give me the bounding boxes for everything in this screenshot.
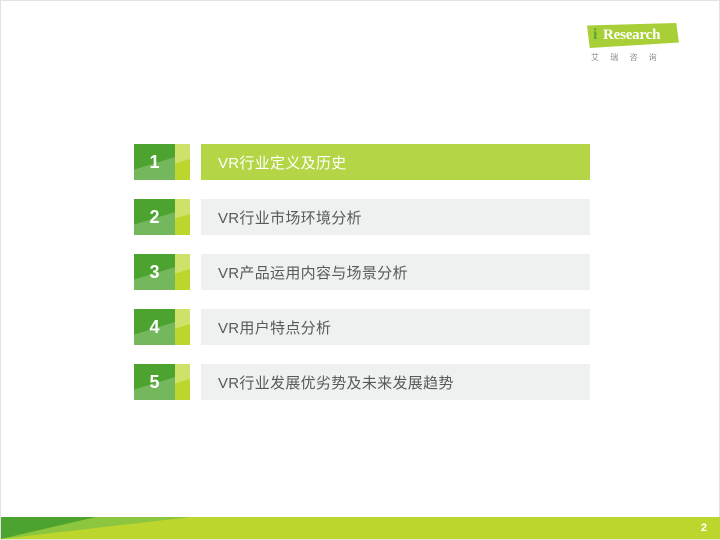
page-number: 2 [701, 517, 707, 539]
agenda-text-bar[interactable]: VR产品运用内容与场景分析 [201, 254, 590, 290]
agenda-item-label: VR产品运用内容与场景分析 [201, 262, 408, 283]
footer-band: 2 [1, 517, 720, 539]
agenda-number: 3 [134, 254, 175, 290]
agenda-text-bar[interactable]: VR用户特点分析 [201, 309, 590, 345]
tile-side-diagonal [175, 309, 190, 345]
agenda-number-tile: 3 [134, 254, 190, 290]
agenda-number-tile: 5 [134, 364, 190, 400]
iresearch-logo: i Research 艾 瑞 咨 询 [587, 23, 683, 71]
agenda-number-tile: 1 [134, 144, 190, 180]
agenda-item-5[interactable]: 5 VR行业发展优劣势及未来发展趋势 [134, 364, 590, 400]
agenda-item-2[interactable]: 2 VR行业市场环境分析 [134, 199, 590, 235]
tile-side-diagonal [175, 199, 190, 235]
slide-canvas: i Research 艾 瑞 咨 询 1 VR行业定义及历史 2 [0, 0, 720, 540]
agenda-text-bar[interactable]: VR行业市场环境分析 [201, 199, 590, 235]
agenda-list: 1 VR行业定义及历史 2 VR行业市场环境分析 3 [134, 144, 590, 400]
logo-flag-shape: i Research [587, 23, 679, 48]
agenda-item-1[interactable]: 1 VR行业定义及历史 [134, 144, 590, 180]
tile-side-diagonal [175, 254, 190, 290]
agenda-text-bar[interactable]: VR行业定义及历史 [201, 144, 590, 180]
agenda-item-4[interactable]: 4 VR用户特点分析 [134, 309, 590, 345]
agenda-number: 1 [134, 144, 175, 180]
logo-i-letter: i [593, 26, 597, 44]
tile-side-diagonal [175, 144, 190, 180]
agenda-item-label: VR行业市场环境分析 [201, 207, 362, 228]
agenda-item-label: VR行业发展优劣势及未来发展趋势 [201, 372, 454, 393]
logo-wordmark: Research [603, 26, 660, 44]
agenda-number: 4 [134, 309, 175, 345]
agenda-number: 2 [134, 199, 175, 235]
agenda-number: 5 [134, 364, 175, 400]
agenda-item-label: VR用户特点分析 [201, 317, 331, 338]
logo-subtitle: 艾 瑞 咨 询 [591, 52, 679, 63]
agenda-text-bar[interactable]: VR行业发展优劣势及未来发展趋势 [201, 364, 590, 400]
agenda-item-3[interactable]: 3 VR产品运用内容与场景分析 [134, 254, 590, 290]
agenda-number-tile: 4 [134, 309, 190, 345]
agenda-item-label: VR行业定义及历史 [201, 152, 347, 173]
agenda-number-tile: 2 [134, 199, 190, 235]
tile-side-diagonal [175, 364, 190, 400]
